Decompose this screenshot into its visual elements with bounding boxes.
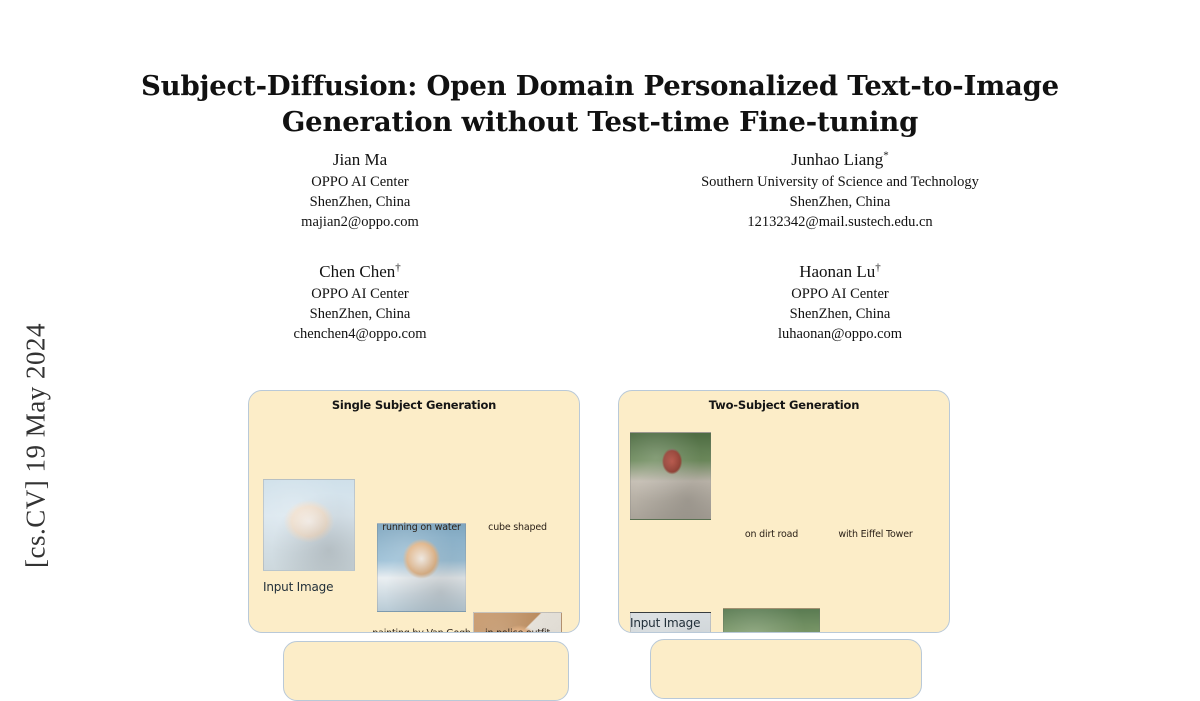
author-name-text: Jian Ma	[333, 150, 387, 169]
title-line-1: Subject-Diffusion: Open Domain Personali…	[141, 70, 1059, 102]
author-affiliation: OPPO AI Center	[600, 284, 1080, 304]
author-email[interactable]: majian2@oppo.com	[120, 212, 600, 232]
figure-panel-two-subject: Two-Subject Generation Input Image on di…	[618, 390, 950, 633]
panel-body: Input Image on dirt road with Eiffel Tow…	[619, 412, 949, 633]
image-caption: painting by Van Gogh	[372, 628, 471, 633]
author-name: Haonan Lu†	[600, 260, 1080, 283]
author-location: ShenZhen, China	[120, 192, 600, 212]
input-image-label: Input Image	[630, 616, 700, 630]
author-location: ShenZhen, China	[600, 304, 1080, 324]
panel-title: Single Subject Generation	[249, 398, 579, 412]
generated-image-running-on-water[interactable]	[377, 523, 466, 612]
image-caption: in police outfit	[473, 628, 562, 633]
image-caption: running on water	[377, 522, 466, 533]
author-block: Jian Ma OPPO AI Center ShenZhen, China m…	[120, 148, 1080, 344]
title-line-2: Generation without Test-time Fine-tuning	[110, 104, 1090, 140]
image-caption: cube shaped	[473, 522, 562, 533]
figure-panel-next-row-right	[650, 639, 922, 699]
author-location: ShenZhen, China	[600, 192, 1080, 212]
author-email[interactable]: 12132342@mail.sustech.edu.cn	[600, 212, 1080, 232]
input-image-thumbnail[interactable]	[263, 479, 355, 571]
panel-body: Input Image running on water cube shaped…	[249, 412, 579, 633]
author-affiliation-marker: *	[883, 149, 889, 161]
author-name: Jian Ma	[120, 148, 600, 171]
author-row: Chen Chen† OPPO AI Center ShenZhen, Chin…	[120, 260, 1080, 344]
paper-page: [cs.CV] 19 May 2024 Subject-Diffusion: O…	[0, 0, 1200, 648]
arxiv-stamp: [cs.CV] 19 May 2024	[21, 266, 52, 626]
author-entry: Junhao Liang* Southern University of Sci…	[600, 148, 1080, 232]
generated-image-dirt-road[interactable]	[723, 608, 820, 633]
author-entry: Chen Chen† OPPO AI Center ShenZhen, Chin…	[120, 260, 600, 344]
author-affiliation: OPPO AI Center	[120, 172, 600, 192]
author-name-text: Chen Chen	[319, 262, 395, 281]
image-caption: with Eiffel Tower	[827, 529, 924, 540]
figure-panel-next-row-left	[283, 641, 569, 701]
author-name-text: Junhao Liang	[791, 150, 883, 169]
figure-panel-single-subject: Single Subject Generation Input Image ru…	[248, 390, 580, 633]
author-email[interactable]: luhaonan@oppo.com	[600, 324, 1080, 344]
author-affiliation: OPPO AI Center	[120, 284, 600, 304]
author-entry: Haonan Lu† OPPO AI Center ShenZhen, Chin…	[600, 260, 1080, 344]
author-location: ShenZhen, China	[120, 304, 600, 324]
author-entry: Jian Ma OPPO AI Center ShenZhen, China m…	[120, 148, 600, 232]
author-affiliation-marker: †	[875, 261, 881, 273]
input-image-thumbnail-bear[interactable]	[630, 432, 711, 520]
author-row: Jian Ma OPPO AI Center ShenZhen, China m…	[120, 148, 1080, 232]
author-name-text: Haonan Lu	[799, 262, 875, 281]
author-name: Chen Chen†	[120, 260, 600, 283]
author-email[interactable]: chenchen4@oppo.com	[120, 324, 600, 344]
input-image-label: Input Image	[263, 580, 333, 594]
image-caption: on dirt road	[723, 529, 820, 540]
author-affiliation-marker: †	[395, 261, 401, 273]
panel-title: Two-Subject Generation	[619, 398, 949, 412]
page-title: Subject-Diffusion: Open Domain Personali…	[110, 68, 1090, 140]
author-name: Junhao Liang*	[600, 148, 1080, 171]
author-affiliation: Southern University of Science and Techn…	[600, 172, 1080, 192]
